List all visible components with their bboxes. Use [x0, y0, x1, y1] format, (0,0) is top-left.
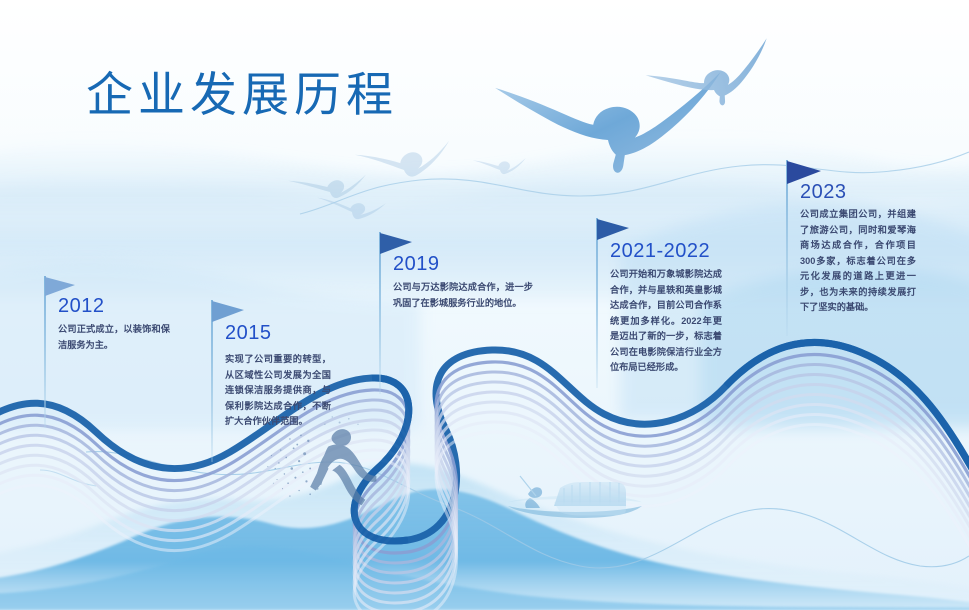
milestone-text: 公司与万达影院达成合作，进一步巩固了在影城服务行业的地位。 — [393, 280, 533, 311]
fishing-boat-silhouette — [508, 476, 642, 518]
flag-icon — [212, 300, 246, 324]
flag-pole — [786, 160, 788, 336]
milestone-text: 公司正式成立，以装饰和保洁服务为主。 — [58, 322, 170, 353]
flag-pole — [596, 218, 598, 388]
milestone-text: 公司成立集团公司，并组建了旅游公司，同时和爱琴海商场达成合作，合作项目300多家… — [800, 207, 916, 316]
flag-pole — [44, 276, 46, 428]
flag-pole — [379, 232, 381, 394]
milestone-year: 2023 — [800, 181, 847, 204]
flag-icon — [597, 218, 631, 242]
milestone-year: 2015 — [225, 322, 272, 345]
runner-silhouette — [267, 416, 376, 505]
milestone-year: 2019 — [393, 253, 440, 276]
flag-pole — [211, 300, 213, 462]
milestone-year: 2021-2022 — [610, 240, 710, 263]
milestone-text: 公司开始和万象城影院达成合作，并与星轶和英皇影城达成合作，目前公司合作系统更加多… — [610, 267, 722, 376]
milestone-text: 实现了公司重要的转型，从区域性公司发展为全国连锁保洁服务提供商，与保利影院达成合… — [225, 352, 331, 430]
page-title: 企业发展历程 — [86, 56, 398, 125]
poster-canvas: 企业发展历程 2012 公司正式成立，以装饰和保洁服务为主。 2015 实现了公… — [0, 0, 969, 610]
milestone-year: 2012 — [58, 295, 105, 318]
